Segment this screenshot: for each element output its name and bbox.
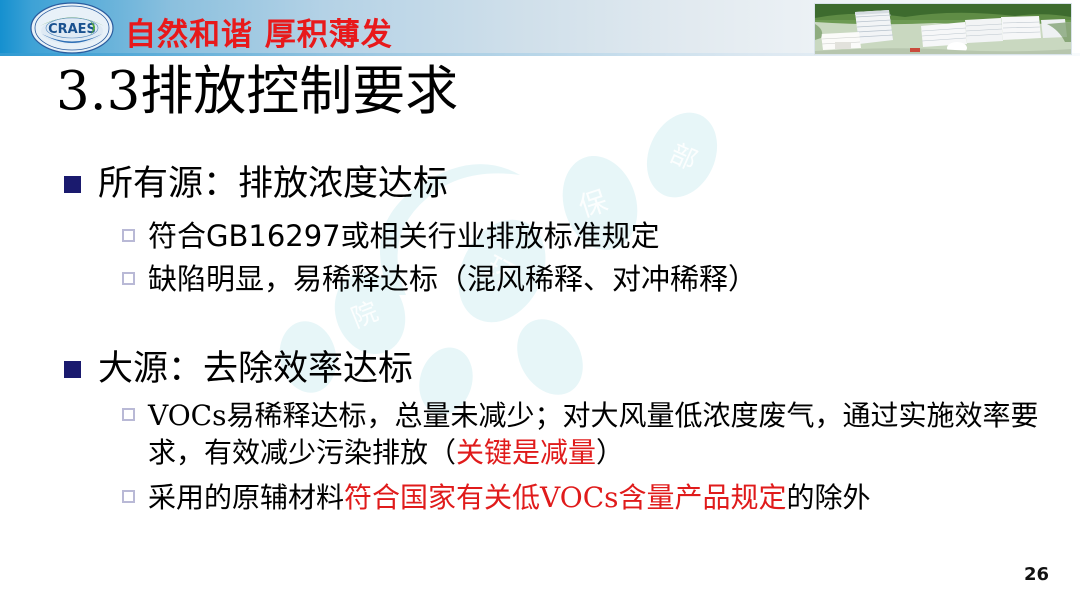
text-run-red: 关键是减量: [456, 436, 596, 469]
bullet-level2-label: 符合GB16297或相关行业排放标准规定: [148, 218, 660, 254]
bullet-level2-label: 缺陷明显，易稀释达标（混风稀释、对冲稀释）: [148, 261, 757, 297]
bullet-level2-item: 采用的原辅材料符合国家有关低VOCs含量产品规定的除外: [122, 479, 1062, 516]
hollow-square-bullet-icon: [122, 272, 135, 285]
bullet-level2-item: VOCs易稀释达标，总量未减少；对大风量低浓度废气，通过实施效率要求，有效减少污…: [122, 397, 1062, 471]
bullet-level1-label: 所有源：排放浓度达标: [98, 162, 448, 206]
square-bullet-icon: [64, 176, 81, 193]
slide: CRAES 自然和谐 厚积薄发: [0, 0, 1080, 607]
bullet-level2-label: VOCs易稀释达标，总量未减少；对大风量低浓度废气，通过实施效率要求，有效减少污…: [148, 397, 1062, 471]
text-run-black: 的除外: [787, 481, 871, 514]
text-run-black: ）: [596, 436, 624, 469]
hollow-square-bullet-icon: [122, 229, 135, 242]
text-run-black: 采用的原辅材料: [148, 481, 344, 514]
bullet-level2-item: 符合GB16297或相关行业排放标准规定: [122, 218, 660, 254]
square-bullet-icon: [64, 361, 81, 378]
bullet-level1-large-sources: 大源：去除效率达标: [64, 347, 413, 391]
bullet-level1-all-sources: 所有源：排放浓度达标: [64, 162, 448, 206]
bullet-level2-item: 缺陷明显，易稀释达标（混风稀释、对冲稀释）: [122, 261, 757, 297]
bullet-level1-label: 大源：去除效率达标: [98, 347, 413, 391]
hollow-square-bullet-icon: [122, 490, 135, 503]
hollow-square-bullet-icon: [122, 408, 135, 421]
text-run-red: 符合国家有关低VOCs含量产品规定: [344, 481, 786, 514]
bullet-level2-label: 采用的原辅材料符合国家有关低VOCs含量产品规定的除外: [148, 479, 871, 516]
slide-body: 所有源：排放浓度达标 符合GB16297或相关行业排放标准规定 缺陷明显，易稀释…: [0, 0, 1080, 607]
page-number: 26: [1024, 564, 1049, 585]
